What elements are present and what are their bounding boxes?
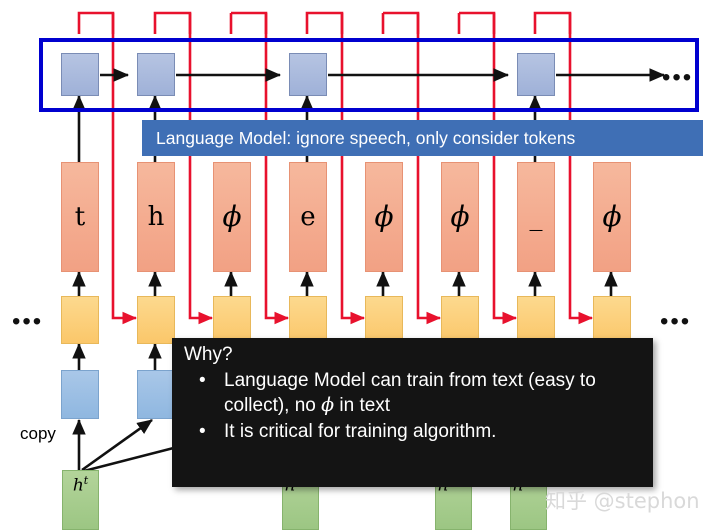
token-box-5[interactable]: ϕ [441,162,479,272]
callout-bullet-text-1: It is critical for training algorithm. [224,421,496,442]
watermark: 知乎 @stephon [545,485,700,515]
language-model-caption-text: Language Model: ignore speech, only cons… [156,128,575,149]
state-row-right-ellipsis: ••• [660,310,691,334]
state-box-7[interactable] [593,296,631,344]
lm-cell-1[interactable] [137,53,175,96]
lm-cell-0[interactable] [61,53,99,96]
token-box-7[interactable]: ϕ [593,162,631,272]
state-box-1[interactable] [137,296,175,344]
state-box-3[interactable] [289,296,327,344]
language-model-caption: Language Model: ignore speech, only cons… [142,120,703,156]
state-box-6[interactable] [517,296,555,344]
copy-box-0[interactable] [61,370,99,419]
copy-label: copy [20,424,56,444]
state-row-left-ellipsis: ••• [12,310,43,334]
callout-title: Why? [184,345,643,366]
lm-row-ellipsis: ••• [662,66,693,90]
state-box-2[interactable] [213,296,251,344]
lm-cell-3[interactable] [289,53,327,96]
token-label-0: t [75,204,85,230]
state-box-0[interactable] [61,296,99,344]
token-box-0[interactable]: t [61,162,99,272]
token-box-1[interactable]: h [137,162,175,272]
token-label-1: h [148,204,165,230]
callout-bullet-list: • Language Model can train from text (ea… [182,368,643,444]
hidden-box-0[interactable]: ht [62,470,99,530]
token-label-3: e [300,204,315,230]
copy-to-state-arrows [79,344,155,370]
callout-bullet-1: • It is critical for training algorithm. [182,419,643,444]
state-to-token-arrows [79,272,611,296]
callout-bullet-text-0: Language Model can train from text (easy… [224,370,596,416]
token-label-5: ϕ [450,203,469,231]
state-box-5[interactable] [441,296,479,344]
state-box-4[interactable] [365,296,403,344]
token-box-6[interactable]: _ [517,162,555,272]
hidden-label-0: ht [73,474,88,496]
phi-symbol-inline: ϕ [321,394,334,416]
token-box-2[interactable]: ϕ [213,162,251,272]
token-label-6: _ [530,204,543,230]
lm-cell-6[interactable] [517,53,555,96]
bullet-glyph-1: • [199,419,206,444]
diagram-canvas: ••• Language Model: ignore speech, only … [0,0,703,530]
token-box-4[interactable]: ϕ [365,162,403,272]
bullet-glyph-0: • [199,368,206,393]
copy-box-1[interactable] [137,370,175,419]
token-box-3[interactable]: e [289,162,327,272]
callout-bullet-0: • Language Model can train from text (ea… [182,368,643,418]
why-callout: Why? • Language Model can train from tex… [172,338,653,487]
token-label-4: ϕ [374,203,393,231]
token-label-2: ϕ [222,203,241,231]
token-label-7: ϕ [602,203,621,231]
